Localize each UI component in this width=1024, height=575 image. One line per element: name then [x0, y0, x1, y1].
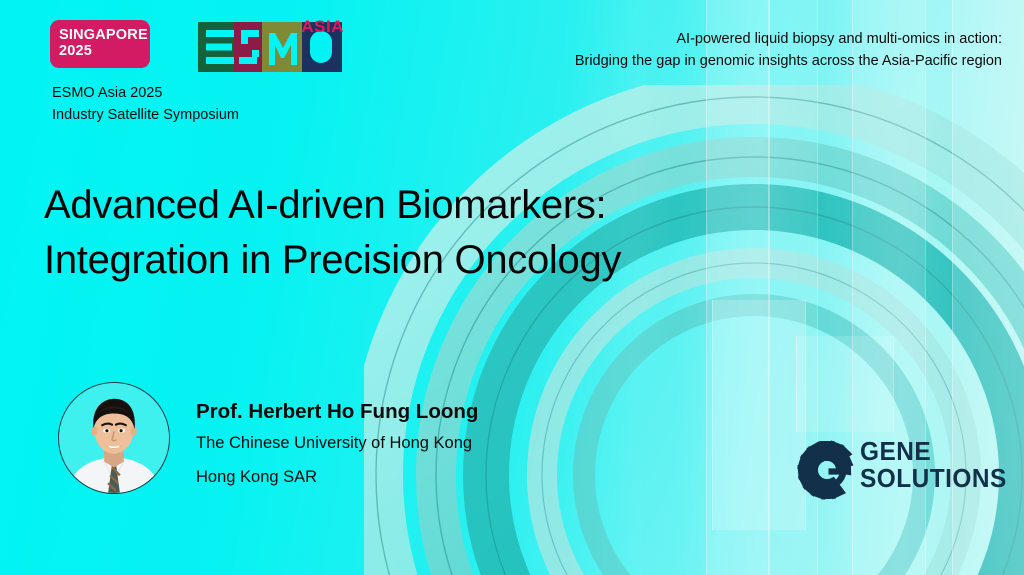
speaker-avatar	[58, 382, 170, 494]
gene-solutions-g-mark-icon	[794, 436, 864, 504]
symposium-theme: AI-powered liquid biopsy and multi-omics…	[575, 28, 1002, 72]
esmo-logo: ASIA	[148, 16, 348, 78]
gene-solutions-logo: GENE SOLUTIONS	[794, 432, 1004, 508]
title-line-2: Integration in Precision Oncology	[44, 233, 621, 288]
event-name: ESMO Asia 2025	[52, 82, 239, 104]
speaker-affiliation: The Chinese University of Hong Kong	[196, 426, 478, 460]
page-title: Advanced AI-driven Biomarkers: Integrati…	[44, 178, 621, 288]
badge-line-1: SINGAPORE	[59, 27, 150, 43]
badge-line-2: 2025	[59, 43, 150, 59]
speaker-details: Prof. Herbert Ho Fung Loong The Chinese …	[196, 398, 478, 494]
speaker-name: Prof. Herbert Ho Fung Loong	[196, 398, 478, 426]
sponsor-name-line-2: SOLUTIONS	[860, 465, 1007, 492]
symposium-theme-line-1: AI-powered liquid biopsy and multi-omics…	[575, 28, 1002, 50]
esmo-branding-block: SINGAPORE 2025	[50, 16, 350, 126]
event-type: Industry Satellite Symposium	[52, 104, 239, 126]
symposium-theme-line-2: Bridging the gap in genomic insights acr…	[575, 50, 1002, 72]
svg-text:ASIA: ASIA	[301, 17, 344, 36]
singapore-2025-badge: SINGAPORE 2025	[50, 20, 150, 68]
esmo-event-subtitle: ESMO Asia 2025 Industry Satellite Sympos…	[52, 82, 239, 126]
title-line-1: Advanced AI-driven Biomarkers:	[44, 178, 621, 233]
presentation-slide: SINGAPORE 2025	[0, 0, 1024, 575]
sponsor-name-line-1: GENE	[860, 438, 1007, 465]
gene-solutions-wordmark: GENE SOLUTIONS	[860, 438, 1007, 492]
speaker-location: Hong Kong SAR	[196, 460, 478, 494]
